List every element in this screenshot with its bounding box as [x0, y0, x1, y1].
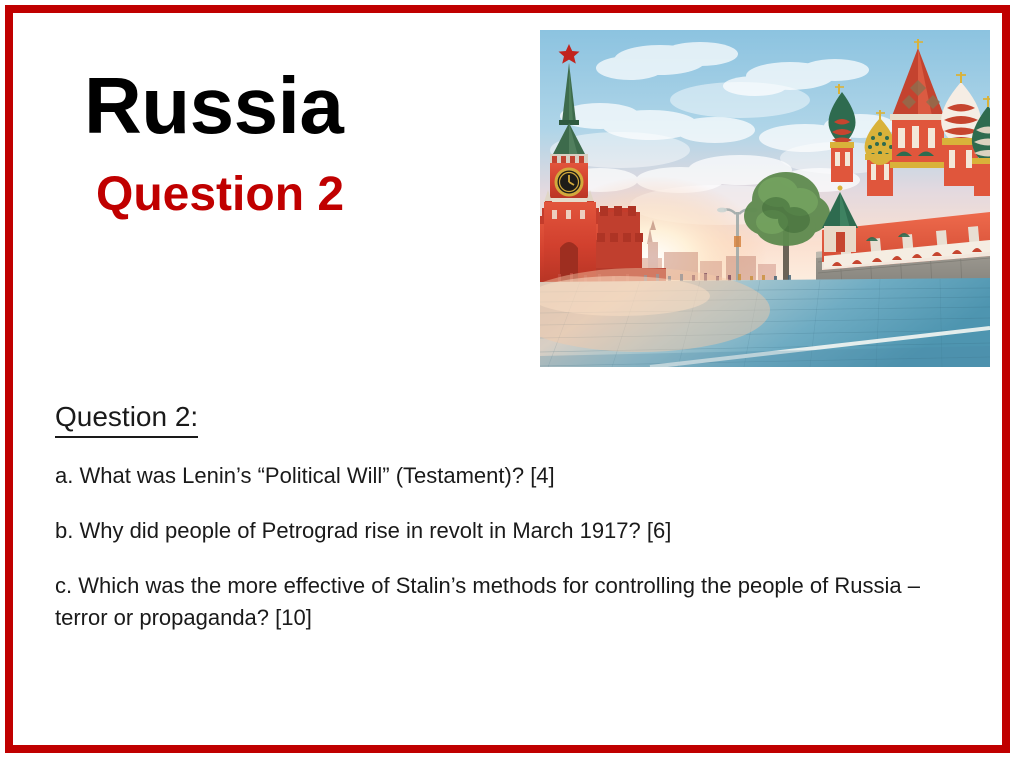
red-square-photo — [540, 30, 990, 367]
question-item-b: b. Why did people of Petrograd rise in r… — [55, 515, 975, 547]
red-square-illustration — [540, 30, 990, 367]
title-block: Russia Question 2 — [60, 60, 500, 224]
question-heading: Question 2: — [55, 400, 198, 438]
question-body: Question 2: a. What was Lenin’s “Politic… — [55, 400, 975, 634]
page-subtitle: Question 2 — [60, 152, 500, 224]
question-item-a: a. What was Lenin’s “Political Will” (Te… — [55, 460, 975, 492]
page-title: Russia — [60, 60, 500, 152]
presentation-slide: Russia Question 2 — [0, 0, 1023, 766]
question-item-c: c. Which was the more effective of Stali… — [55, 570, 975, 634]
question-heading-wrap: Question 2: — [55, 400, 975, 460]
